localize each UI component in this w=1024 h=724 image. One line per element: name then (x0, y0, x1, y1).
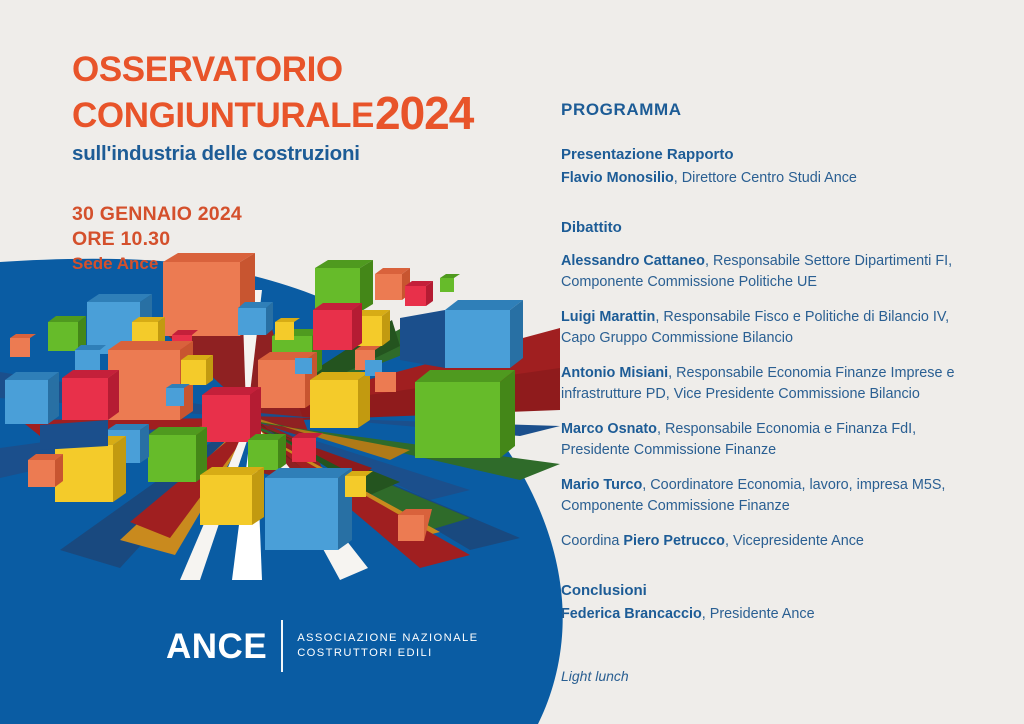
debate-speaker-1: Alessandro Cattaneo, Responsabile Settor… (561, 251, 981, 292)
conclusions-speaker-name: Federica Brancaccio (561, 606, 702, 622)
conclusions-speaker: Federica Brancaccio, Presidente Ance (561, 604, 981, 624)
title-line-2: CONGIUNTURALE2024 (72, 88, 512, 135)
ance-logo-tagline: ASSOCIAZIONE NAZIONALE COSTRUTTORI EDILI (297, 631, 478, 661)
debate-moderator: Coordina Piero Petrucco, Vicepresidente … (561, 531, 981, 551)
moderator-name: Piero Petrucco (623, 533, 725, 549)
programme-heading: PROGRAMMA (561, 100, 981, 120)
presentation-speaker: Flavio Monosilio, Direttore Centro Studi… (561, 168, 981, 188)
ance-logo-wordmark: ANCE (166, 629, 267, 664)
section-title-conclusions: Conclusioni (561, 581, 981, 601)
title-line-2-word: CONGIUNTURALE (72, 98, 374, 134)
footer-note: Light lunch (561, 668, 981, 684)
debate-speaker-4: Marco Osnato, Responsabile Economia e Fi… (561, 419, 981, 460)
title-line-1: OSSERVATORIO (72, 52, 512, 88)
debate-speaker-1-name: Alessandro Cattaneo (561, 253, 705, 269)
ance-logo-tagline-line1: ASSOCIAZIONE NAZIONALE (297, 631, 478, 646)
ance-logo: ANCE ASSOCIAZIONE NAZIONALE COSTRUTTORI … (166, 620, 478, 672)
event-venue: Sede Ance (72, 253, 512, 276)
event-date: 30 GENNAIO 2024 (72, 202, 512, 227)
event-time: ORE 10.30 (72, 227, 512, 252)
section-title-debate: Dibattito (561, 218, 981, 238)
title-year: 2024 (375, 90, 473, 137)
conclusions-speaker-role: , Presidente Ance (702, 606, 815, 622)
programme-column: PROGRAMMA Presentazione Rapporto Flavio … (561, 100, 981, 684)
debate-speaker-5-name: Mario Turco (561, 477, 642, 493)
debate-speaker-2: Luigi Marattin, Responsabile Fisco e Pol… (561, 307, 981, 348)
debate-speaker-2-name: Luigi Marattin (561, 309, 655, 325)
event-details-block: 30 GENNAIO 2024 ORE 10.30 Sede Ance (72, 202, 512, 276)
debate-speaker-3: Antonio Misiani, Responsabile Economia F… (561, 363, 981, 404)
presentation-speaker-name: Flavio Monosilio (561, 170, 674, 186)
debate-speaker-5: Mario Turco, Coordinatore Economia, lavo… (561, 475, 981, 516)
section-title-presentation: Presentazione Rapporto (561, 145, 981, 165)
poster-canvas: OSSERVATORIO CONGIUNTURALE2024 sull'indu… (0, 0, 1024, 724)
moderator-prefix: Coordina (561, 533, 623, 549)
debate-speaker-3-name: Antonio Misiani (561, 365, 668, 381)
ance-logo-tagline-line2: COSTRUTTORI EDILI (297, 646, 478, 661)
poster-headline-block: OSSERVATORIO CONGIUNTURALE2024 sull'indu… (72, 52, 512, 275)
poster-subtitle: sull'industria delle costruzioni (72, 142, 512, 166)
exploding-cubes-graphic (0, 250, 560, 580)
debate-speaker-4-name: Marco Osnato (561, 421, 657, 437)
moderator-role: , Vicepresidente Ance (725, 533, 864, 549)
presentation-speaker-role: , Direttore Centro Studi Ance (674, 170, 857, 186)
logo-divider (281, 620, 283, 672)
